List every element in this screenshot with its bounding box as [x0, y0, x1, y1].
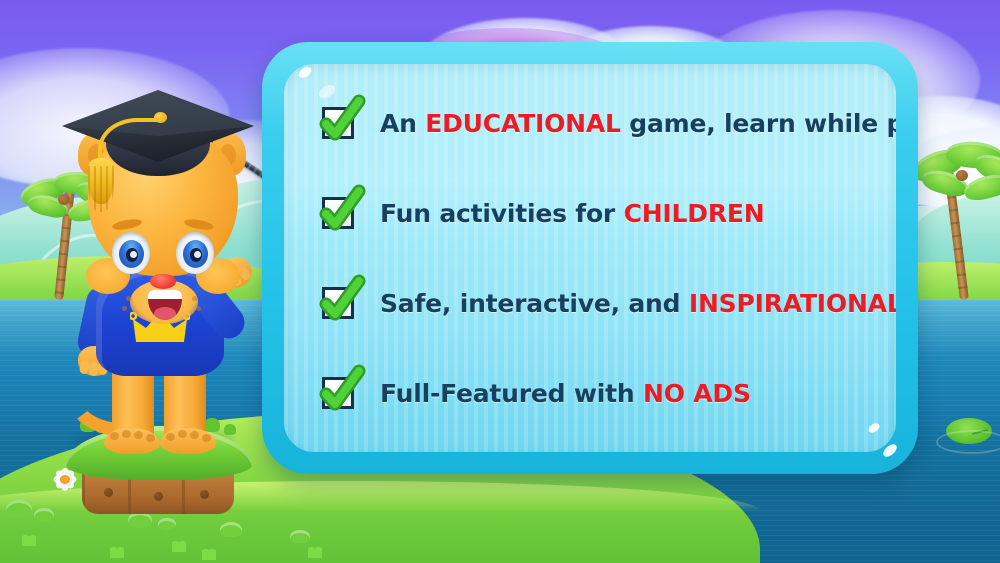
eye-left — [112, 232, 150, 274]
feature-board[interactable]: An EDUCATIONAL game, learn while playing… — [262, 42, 918, 474]
coconut-icon — [956, 170, 968, 181]
feature-label: Full-Featured with NO ADS — [380, 379, 751, 408]
feature-label: An EDUCATIONAL game, learn while playing… — [380, 109, 896, 138]
tassel — [88, 158, 114, 204]
island-grass-blade — [204, 418, 220, 432]
grass-tuft — [128, 512, 152, 528]
foot-left — [104, 428, 160, 454]
feature-list: An EDUCATIONAL game, learn while playing… — [284, 64, 896, 452]
island-grass-blade — [224, 424, 236, 435]
green-check-icon — [318, 103, 358, 143]
grass-tuft — [290, 530, 310, 543]
grass-sprout — [202, 548, 216, 560]
board-panel: An EDUCATIONAL game, learn while playing… — [284, 64, 896, 452]
water-ripple — [936, 430, 1000, 454]
grass-tuft — [6, 500, 32, 518]
lion-cub-character — [52, 70, 282, 490]
green-check-icon — [318, 283, 358, 323]
grass-sprout — [308, 546, 322, 558]
feature-row[interactable]: Full-Featured with NO ADS — [318, 373, 870, 413]
feature-label: Safe, interactive, and INSPIRATIONAL — [380, 289, 896, 318]
brow-right — [183, 217, 214, 231]
grass-sprout — [172, 540, 186, 552]
green-check-icon — [318, 373, 358, 413]
grass-tuft — [220, 522, 242, 537]
feature-row[interactable]: Fun activities for CHILDREN — [318, 193, 870, 233]
graduation-cap-icon — [58, 82, 264, 192]
feature-row[interactable]: Safe, interactive, and INSPIRATIONAL — [318, 283, 870, 323]
grass-tuft — [34, 508, 54, 522]
palm-tree-right — [912, 140, 1000, 300]
feature-label: Fun activities for CHILDREN — [380, 199, 764, 228]
grass-sprout — [110, 546, 124, 558]
nose — [150, 274, 176, 289]
green-check-icon — [318, 193, 358, 233]
foot-right — [160, 428, 216, 454]
feature-row[interactable]: An EDUCATIONAL game, learn while playing… — [318, 103, 870, 143]
eye-right — [176, 232, 214, 274]
grass-sprout — [22, 534, 36, 546]
grass-tuft — [158, 518, 176, 530]
promo-banner-stage: An EDUCATIONAL game, learn while playing… — [0, 0, 1000, 563]
brow-left — [111, 217, 142, 231]
